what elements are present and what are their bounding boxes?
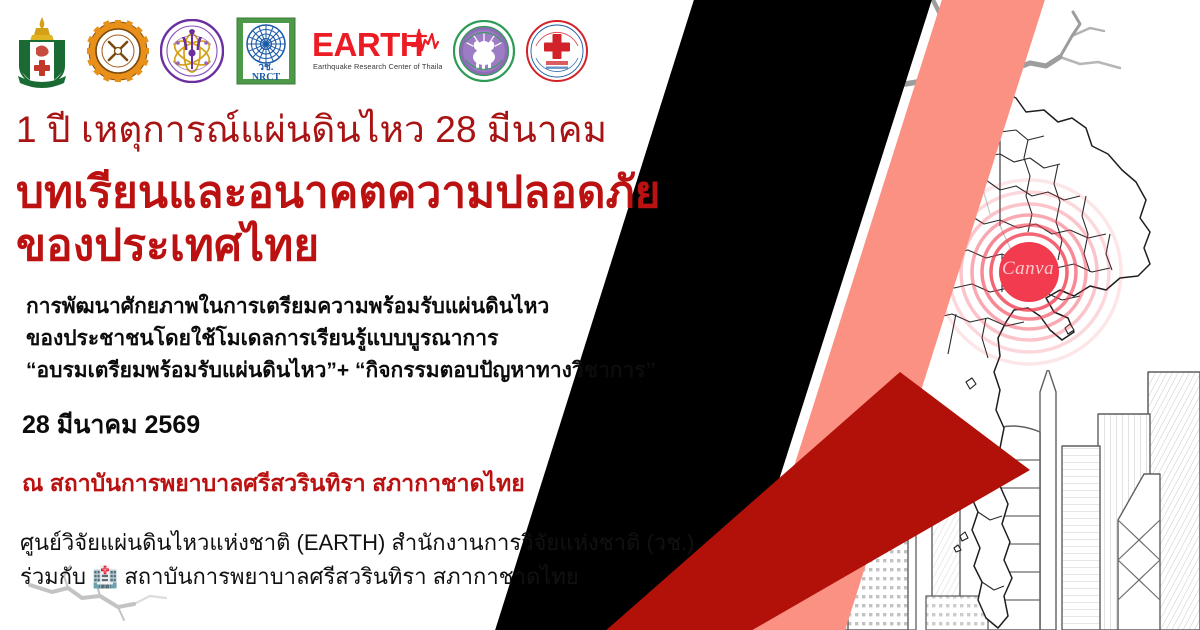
logo-earth: EARTH Earthquake Research Center of Thai… [312,22,442,80]
kicker-line: 1 ปี เหตุการณ์แผ่นดินไหว 28 มีนาคม [16,108,806,152]
nrct-abbr-label: NRCT [252,72,281,83]
logo-thai-red-cross-society-emblem [526,20,588,82]
hospital-icon: 🏥 [92,566,118,589]
earth-wordmark: EARTH [312,26,423,63]
canva-watermark: Canva [1002,258,1054,280]
logo-srisavarindhira-thai-red-cross-institute-of-nursing-emblem [8,14,76,88]
earth-subtitle: Earthquake Research Center of Thailand [313,62,442,71]
organizer-line-1: ศูนย์วิจัยแผ่นดินไหวแห่งชาติ (EARTH) สำน… [20,526,806,560]
logo-engineering-institute-gear-emblem [87,20,149,82]
poster-text-block: 1 ปี เหตุการณ์แผ่นดินไหว 28 มีนาคม บทเรี… [16,108,806,594]
description-line-2: ของประชาชนโดยใช้โมเดลการเรียนรู้แบบบูรณา… [26,323,806,355]
epicenter-core [999,242,1059,302]
headline-line-2: ของประเทศไทย [16,219,806,273]
description-line-3: “อบรมเตรียมพร้อมรับแผ่นดินไหว”+ “กิจกรรม… [26,355,806,387]
event-date: 28 มีนาคม 2569 [22,405,806,445]
organizer-partner: สถาบันการพยาบาลศรีสวรินทิรา สภากาชาดไทย [124,564,578,589]
event-venue: ณ สถาบันการพยาบาลศรีสวรินทิรา สภากาชาดไท… [22,466,806,502]
description-block: การพัฒนาศักยภาพในการเตรียมความพร้อมรับแผ… [26,291,806,387]
organizer-line-2: ร่วมกับ 🏥 สถาบันการพยาบาลศรีสวรินทิรา สภ… [20,560,806,595]
organizer-prefix: ร่วมกับ [20,564,86,589]
logo-elephant-seal-emblem [453,20,515,82]
organizer-block: ศูนย์วิจัยแผ่นดินไหวแห่งชาติ (EARTH) สำน… [20,526,806,595]
logo-nrct: วช. NRCT [235,17,297,85]
headline-line-1: บทเรียนและอนาคตความปลอดภัย [16,166,806,220]
description-line-1: การพัฒนาศักยภาพในการเตรียมความพร้อมรับแผ… [26,291,806,323]
headline: บทเรียนและอนาคตความปลอดภัย ของประเทศไทย [16,166,806,273]
partner-logo-row: วช. NRCT EARTH Earthquake Research Cente… [8,14,588,88]
event-poster: วช. NRCT EARTH Earthquake Research Cente… [0,0,1200,630]
logo-university-trident-atom-emblem [160,19,224,83]
